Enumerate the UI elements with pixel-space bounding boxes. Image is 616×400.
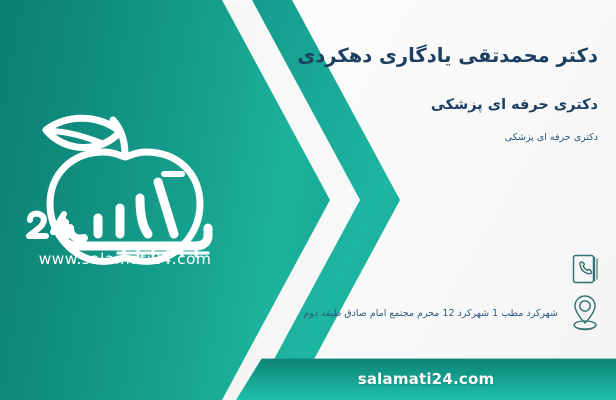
phone-book-icon bbox=[568, 252, 602, 286]
doctor-specialty-primary: دکتری حرفه ای پزشکی bbox=[431, 97, 598, 113]
address-contact-row[interactable]: شهرکرد مطب 1 شهرکرد 12 محرم مجتمع امام ص… bbox=[303, 292, 602, 334]
phone-contact-row[interactable] bbox=[562, 252, 602, 286]
logo-website-url[interactable]: www.salamati24.com bbox=[12, 250, 238, 268]
apple-leaf-icon bbox=[12, 108, 238, 273]
doctor-name: دکتر محمدتقی یادگاری دهکردی bbox=[297, 44, 598, 67]
salamati24-logo bbox=[12, 108, 238, 273]
business-card: www.salamati24.com دکتر محمدتقی یادگاری … bbox=[0, 0, 616, 400]
address-text: شهرکرد مطب 1 شهرکرد 12 محرم مجتمع امام ص… bbox=[303, 308, 558, 319]
location-pin-icon bbox=[568, 292, 602, 334]
doctor-specialty-secondary: دکتری حرفه ای پزشکی bbox=[505, 132, 598, 143]
footer-site-label[interactable]: salamati24.com bbox=[236, 358, 616, 400]
